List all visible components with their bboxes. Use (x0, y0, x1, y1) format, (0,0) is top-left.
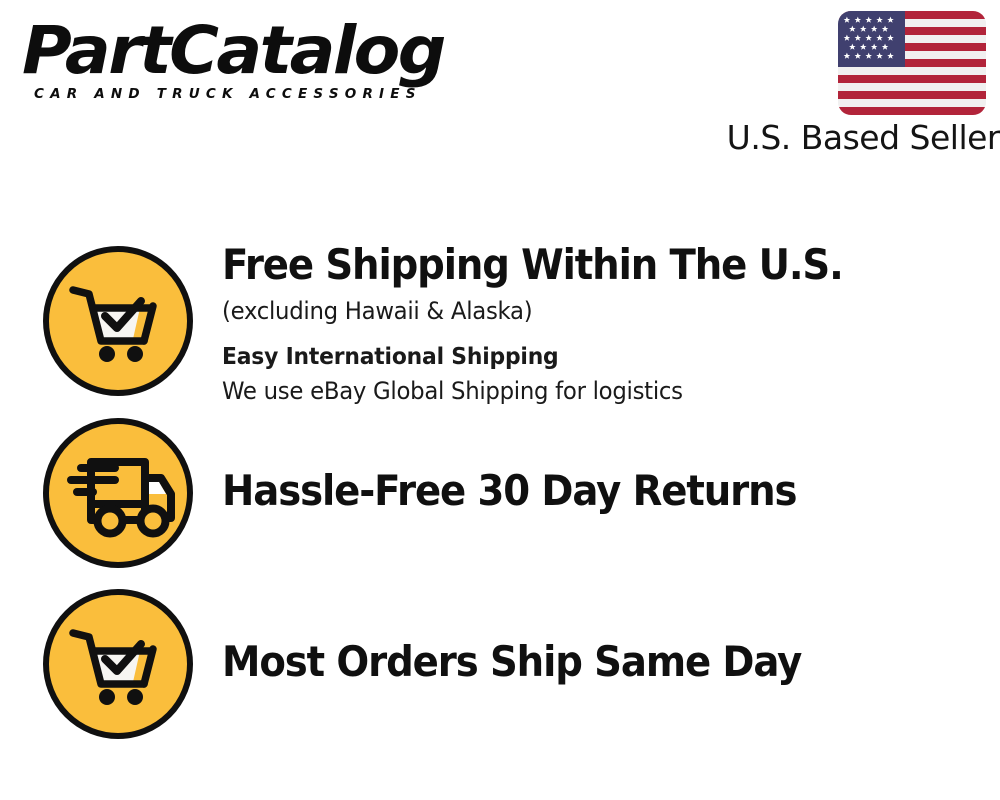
feature-row-same-day-ship: Most Orders Ship Same Day (0, 589, 1000, 744)
flag-stripe (838, 67, 986, 75)
feature-icon-wrapper (43, 589, 193, 739)
brand-logo[interactable]: PartCatalog CAR AND TRUCK ACCESSORIES (22, 18, 492, 118)
flag-stripe (838, 75, 986, 83)
brand-wordmark: PartCatalog (22, 18, 506, 84)
flag-canton (838, 11, 905, 67)
flag-stripe (838, 91, 986, 99)
feature-row-free-shipping: Free Shipping Within The U.S. (excluding… (0, 246, 1000, 406)
feature-text-block: Hassle-Free 30 Day Returns (222, 418, 982, 516)
us-flag-icon (838, 11, 986, 115)
us-based-seller-label: U.S. Based Seller (722, 119, 1000, 157)
feature-text-block: Most Orders Ship Same Day (222, 589, 982, 687)
flag-stripe (838, 107, 986, 115)
us-flag-badge (838, 11, 986, 115)
flag-stripe (838, 83, 986, 91)
shopping-cart-check-icon (43, 589, 193, 739)
feature-icon-wrapper (43, 418, 193, 568)
feature-subnote: (excluding Hawaii & Alaska) (222, 294, 944, 328)
feature-substrong: Easy International Shipping (222, 340, 944, 374)
feature-icon-wrapper (43, 246, 193, 396)
shopping-cart-check-icon (43, 246, 193, 396)
flag-stripe (838, 99, 986, 107)
feature-row-returns: Hassle-Free 30 Day Returns (0, 418, 1000, 573)
feature-title: Most Orders Ship Same Day (222, 637, 921, 687)
feature-title: Hassle-Free 30 Day Returns (222, 466, 921, 516)
flag-stars (838, 11, 905, 67)
delivery-truck-icon (43, 418, 193, 568)
feature-text-block: Free Shipping Within The U.S. (excluding… (222, 246, 982, 408)
feature-title: Free Shipping Within The U.S. (222, 240, 921, 290)
feature-subdetail: We use eBay Global Shipping for logistic… (222, 374, 944, 408)
